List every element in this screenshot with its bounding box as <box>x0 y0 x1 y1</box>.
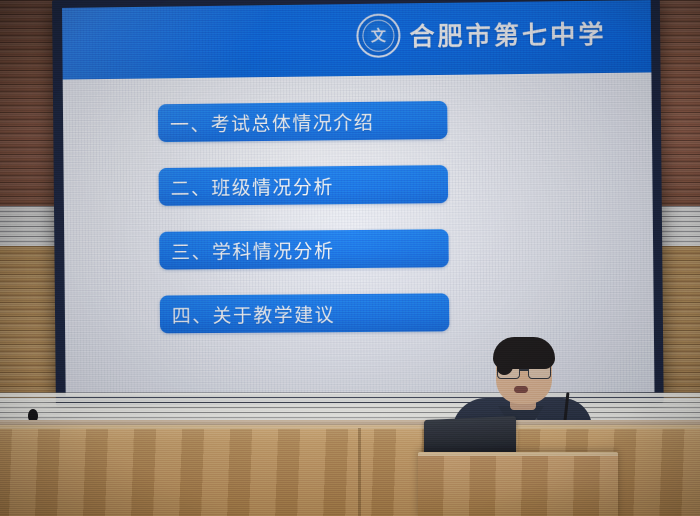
presenter-hair <box>493 337 555 369</box>
presenter-mouth <box>514 386 528 393</box>
glasses-bridge <box>519 369 529 371</box>
agenda-item-4-label: 四、关于教学建议 <box>172 300 336 328</box>
agenda-item-2-label: 二、班级情况分析 <box>170 172 334 201</box>
podium <box>418 452 618 516</box>
school-branding: 文 合肥市第七中学 <box>356 11 607 58</box>
agenda-item-1: 一、考试总体情况介绍 <box>158 101 448 142</box>
school-name: 合肥市第七中学 <box>409 15 606 54</box>
agenda-item-1-label: 一、考试总体情况介绍 <box>170 107 374 136</box>
agenda-item-3: 三、学科情况分析 <box>159 229 449 269</box>
school-crest-glyph: 文 <box>371 28 386 43</box>
agenda-item-4: 四、关于教学建议 <box>160 293 450 333</box>
slide-header-band: 文 合肥市第七中学 <box>62 0 651 80</box>
agenda-item-3-label: 三、学科情况分析 <box>171 236 335 264</box>
school-crest-icon: 文 <box>356 13 400 58</box>
stage-desk-seam <box>358 428 361 516</box>
auditorium-presentation-photo: 文 合肥市第七中学 一、考试总体情况介绍 二、班级情况分析 三、学科情况分析 四… <box>0 0 700 516</box>
agenda-item-2: 二、班级情况分析 <box>159 165 449 206</box>
